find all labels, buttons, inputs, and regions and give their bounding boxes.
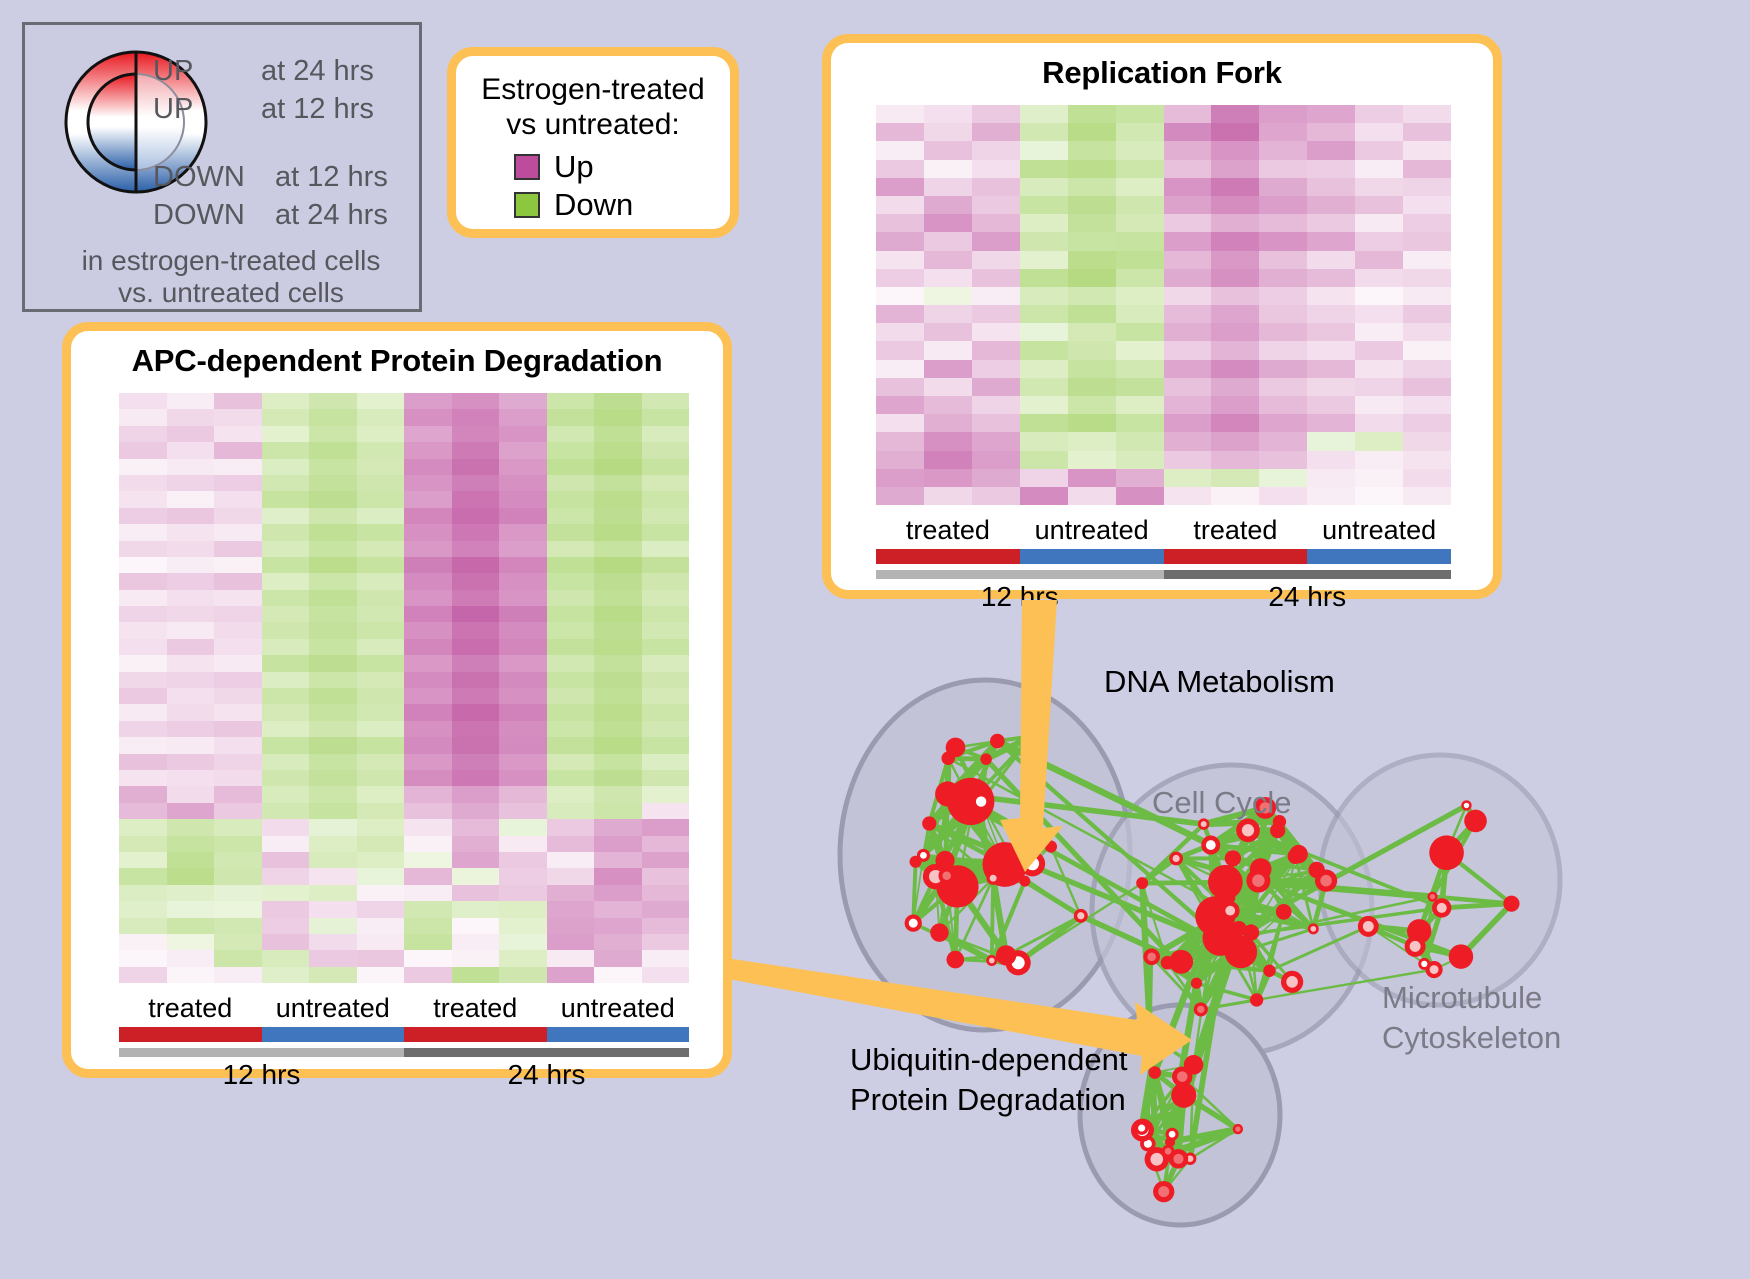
network-node[interactable] [1418, 958, 1430, 970]
heatmap-cell [1307, 360, 1355, 378]
network-node[interactable] [1169, 950, 1193, 974]
heatmap-cell [972, 432, 1020, 450]
heatmap-cell [499, 426, 547, 442]
heatmap-cell [642, 524, 690, 540]
heatmap-cell [924, 432, 972, 450]
heatmap-row [119, 901, 689, 917]
network-node[interactable] [1308, 923, 1319, 934]
heatmap-row [876, 251, 1451, 269]
apc-heatmap [119, 393, 689, 983]
heatmap-cell [1020, 432, 1068, 450]
cluster-label-ubiquitin: Ubiquitin-dependent [850, 1042, 1128, 1078]
heatmap-cell [1068, 141, 1116, 159]
network-node[interactable] [1020, 851, 1045, 876]
heatmap-row [119, 508, 689, 524]
heatmap-cell [357, 918, 405, 934]
heatmap-cell [214, 655, 262, 671]
heatmap-cell [309, 688, 357, 704]
heatmap-cell [1307, 214, 1355, 232]
heatmap-cell [262, 459, 310, 475]
heatmap-cell [876, 196, 924, 214]
heatmap-cell [167, 770, 215, 786]
network-node[interactable] [1250, 993, 1263, 1006]
heatmap-cell [1068, 214, 1116, 232]
heatmap-cell [357, 426, 405, 442]
heatmap-cell [262, 606, 310, 622]
heatmap-cell [547, 737, 595, 753]
heatmap-cell [309, 967, 357, 983]
heatmap-cell [1164, 323, 1212, 341]
heatmap-row [119, 885, 689, 901]
heatmap-cell [119, 639, 167, 655]
key-word-1: UP [153, 93, 193, 126]
network-node[interactable] [986, 872, 999, 885]
network-node[interactable] [1143, 948, 1160, 965]
heatmap-cell [404, 836, 452, 852]
heatmap-cell [309, 934, 357, 950]
heatmap-cell [642, 901, 690, 917]
heatmap-cell [499, 475, 547, 491]
network-node[interactable] [1169, 1149, 1189, 1169]
heatmap-cell [1211, 178, 1259, 196]
heatmap-cell [1211, 196, 1259, 214]
network-node[interactable] [986, 955, 997, 966]
heatmap-cell [262, 836, 310, 852]
heatmap-cell [1307, 305, 1355, 323]
heatmap-row [119, 524, 689, 540]
legend-title-line1: Estrogen-treated [456, 72, 730, 107]
heatmap-cell [876, 469, 924, 487]
heatmap-cell [1020, 287, 1068, 305]
heatmap-cell [262, 901, 310, 917]
heatmap-cell [1164, 360, 1212, 378]
heatmap-cell [167, 885, 215, 901]
heatmap-cell [1259, 160, 1307, 178]
heatmap-cell [214, 409, 262, 425]
heatmap-cell [1068, 341, 1116, 359]
heatmap-cell [924, 341, 972, 359]
heatmap-cell [972, 487, 1020, 505]
heatmap-cell [1020, 160, 1068, 178]
heatmap-cell [547, 721, 595, 737]
heatmap-cell [452, 868, 500, 884]
heatmap-cell [547, 524, 595, 540]
heatmap-cell [119, 508, 167, 524]
heatmap-cell [167, 934, 215, 950]
heatmap-cell [1355, 305, 1403, 323]
network-node[interactable] [1171, 1083, 1196, 1108]
heatmap-cell [404, 541, 452, 557]
heatmap-cell [1020, 123, 1068, 141]
heatmap-cell [594, 950, 642, 966]
axis-treatment-bar [547, 1027, 690, 1042]
heatmap-cell [1164, 305, 1212, 323]
heatmap-cell [309, 590, 357, 606]
network-node[interactable] [1221, 901, 1240, 920]
heatmap-cell [642, 573, 690, 589]
heatmap-row [119, 426, 689, 442]
network-node[interactable] [1153, 1181, 1174, 1202]
heatmap-cell [214, 606, 262, 622]
heatmap-cell [594, 770, 642, 786]
heatmap-cell [499, 950, 547, 966]
apc-panel: APC-dependent Protein Degradation treate… [62, 322, 732, 1078]
heatmap-cell [1403, 487, 1451, 505]
axis-timepoint-bar [1164, 570, 1452, 579]
heatmap-cell [1164, 251, 1212, 269]
heatmap-cell [357, 803, 405, 819]
heatmap-cell [214, 918, 262, 934]
heatmap-cell [1259, 432, 1307, 450]
heatmap-cell [547, 934, 595, 950]
heatmap-cell [1116, 269, 1164, 287]
heatmap-cell [309, 721, 357, 737]
axis-treatment-bar [1020, 549, 1164, 564]
heatmap-cell [214, 442, 262, 458]
network-node[interactable] [930, 923, 948, 941]
heatmap-cell [357, 721, 405, 737]
network-node[interactable] [1144, 1028, 1167, 1051]
heatmap-cell [594, 901, 642, 917]
heatmap-cell [404, 868, 452, 884]
network-node[interactable] [938, 868, 954, 884]
network-node[interactable] [1148, 1066, 1161, 1079]
heatmap-cell [499, 918, 547, 934]
network-node[interactable] [1233, 1124, 1243, 1134]
heatmap-cell [1403, 432, 1451, 450]
heatmap-cell [167, 655, 215, 671]
heatmap-cell [924, 414, 972, 432]
heatmap-cell [309, 573, 357, 589]
heatmap-cell [309, 918, 357, 934]
network-node[interactable] [1281, 971, 1303, 993]
heatmap-cell [357, 491, 405, 507]
network-node[interactable] [1263, 965, 1275, 977]
network-node[interactable] [1246, 869, 1270, 893]
heatmap-cell [167, 622, 215, 638]
network-node[interactable] [1019, 876, 1030, 887]
network-node[interactable] [1503, 896, 1519, 912]
heatmap-cell [214, 508, 262, 524]
heatmap-cell [452, 508, 500, 524]
heatmap-cell [214, 393, 262, 409]
heatmap-cell [404, 688, 452, 704]
heatmap-cell [404, 819, 452, 835]
heatmap-cell [404, 475, 452, 491]
axis-treatment-bar [404, 1027, 547, 1042]
network-node[interactable] [1449, 944, 1473, 968]
heatmap-cell [452, 754, 500, 770]
heatmap-cell [1020, 323, 1068, 341]
heatmap-cell [1211, 360, 1259, 378]
heatmap-cell [972, 414, 1020, 432]
network-node[interactable] [980, 753, 992, 765]
heatmap-cell [214, 852, 262, 868]
network-node[interactable] [1405, 936, 1426, 957]
network-node[interactable] [1231, 921, 1246, 936]
axis-timepoint-bar [404, 1048, 689, 1057]
heatmap-cell [1068, 487, 1116, 505]
heatmap-cell [167, 868, 215, 884]
heatmap-cell [1403, 232, 1451, 250]
heatmap-cell [404, 393, 452, 409]
heatmap-cell [594, 967, 642, 983]
heatmap-cell [876, 360, 924, 378]
heatmap-cell [1355, 451, 1403, 469]
heatmap-cell [1403, 305, 1451, 323]
heatmap-cell [262, 622, 310, 638]
heatmap-cell [262, 491, 310, 507]
heatmap-cell [357, 606, 405, 622]
heatmap-cell [594, 688, 642, 704]
heatmap-cell [1116, 178, 1164, 196]
heatmap-cell [1116, 323, 1164, 341]
heatmap-cell [594, 639, 642, 655]
heatmap-cell [547, 655, 595, 671]
network-node[interactable] [990, 734, 1005, 749]
heatmap-cell [167, 901, 215, 917]
heatmap-row [876, 232, 1451, 250]
network-node[interactable] [1136, 877, 1148, 889]
heatmap-cell [404, 573, 452, 589]
heatmap-cell [119, 901, 167, 917]
heatmap-cell [309, 508, 357, 524]
heatmap-cell [452, 491, 500, 507]
heatmap-cell [262, 557, 310, 573]
axis-timepoint-bar [119, 1048, 404, 1057]
heatmap-cell [1259, 323, 1307, 341]
heatmap-row [876, 341, 1451, 359]
heatmap-cell [642, 737, 690, 753]
heatmap-cell [876, 341, 924, 359]
heatmap-cell [876, 269, 924, 287]
network-node[interactable] [935, 851, 954, 870]
heatmap-cell [1211, 123, 1259, 141]
network-node[interactable] [971, 791, 991, 811]
key-time-1: at 12 hrs [261, 93, 374, 126]
network-node[interactable] [1225, 936, 1258, 969]
heatmap-cell [167, 442, 215, 458]
axis-treatment-bar [876, 549, 1020, 564]
heatmap-cell [924, 305, 972, 323]
heatmap-cell [547, 803, 595, 819]
heatmap-cell [1307, 487, 1355, 505]
axis-group-label: treated [1164, 515, 1308, 546]
heatmap-cell [167, 393, 215, 409]
network-node[interactable] [1236, 819, 1260, 843]
heatmap-cell [547, 967, 595, 983]
heatmap-cell [1259, 487, 1307, 505]
heatmap-cell [357, 852, 405, 868]
heatmap-cell [167, 639, 215, 655]
network-node[interactable] [1289, 845, 1307, 863]
heatmap-row [119, 622, 689, 638]
heatmap-cell [357, 688, 405, 704]
heatmap-cell [1307, 105, 1355, 123]
heatmap-cell [499, 672, 547, 688]
heatmap-cell [1259, 251, 1307, 269]
heatmap-cell [594, 573, 642, 589]
heatmap-cell [119, 459, 167, 475]
heatmap-cell [167, 606, 215, 622]
heatmap-cell [547, 836, 595, 852]
heatmap-cell [1307, 432, 1355, 450]
heatmap-cell [357, 770, 405, 786]
heatmap-cell [214, 868, 262, 884]
axis-treatment-bars [119, 1027, 689, 1042]
heatmap-cell [547, 770, 595, 786]
heatmap-row [119, 950, 689, 966]
heatmap-cell [357, 442, 405, 458]
network-edge [913, 862, 915, 923]
heatmap-cell [1116, 487, 1164, 505]
up-swatch-icon [514, 154, 540, 180]
heatmap-cell [1020, 178, 1068, 196]
heatmap-cell [1211, 251, 1259, 269]
heatmap-cell [876, 396, 924, 414]
network-node[interactable] [1464, 810, 1487, 833]
heatmap-cell [404, 918, 452, 934]
network-node[interactable] [1358, 916, 1379, 937]
heatmap-cell [1020, 469, 1068, 487]
heatmap-cell [452, 655, 500, 671]
network-node[interactable] [922, 816, 936, 830]
heatmap-cell [642, 590, 690, 606]
legend-label-up: Up [554, 149, 594, 185]
heatmap-row [876, 123, 1451, 141]
heatmap-cell [309, 852, 357, 868]
heatmap-cell [594, 606, 642, 622]
key-time-2: at 12 hrs [275, 161, 388, 194]
network-node[interactable] [1427, 892, 1437, 902]
key-time-3: at 24 hrs [275, 199, 388, 232]
heatmap-cell [924, 269, 972, 287]
network-node[interactable] [1276, 904, 1292, 920]
heatmap-cell [404, 885, 452, 901]
heatmap-cell [547, 491, 595, 507]
network-node[interactable] [1194, 1002, 1208, 1016]
network-node[interactable] [1184, 1055, 1204, 1075]
heatmap-cell [167, 573, 215, 589]
heatmap-cell [1403, 178, 1451, 196]
heatmap-cell [1068, 432, 1116, 450]
heatmap-cell [547, 754, 595, 770]
network-node[interactable] [1026, 730, 1038, 742]
heatmap-cell [452, 622, 500, 638]
heatmap-cell [642, 672, 690, 688]
heatmap-row [119, 737, 689, 753]
heatmap-cell [499, 786, 547, 802]
heatmap-cell [1259, 341, 1307, 359]
network-node[interactable] [910, 856, 922, 868]
heatmap-cell [924, 487, 972, 505]
heatmap-cell [452, 573, 500, 589]
heatmap-cell [167, 590, 215, 606]
network-node[interactable] [941, 751, 955, 765]
heatmap-cell [972, 323, 1020, 341]
heatmap-cell [499, 885, 547, 901]
heatmap-cell [499, 721, 547, 737]
heatmap-cell [404, 852, 452, 868]
heatmap-cell [594, 557, 642, 573]
network-node[interactable] [946, 951, 964, 969]
heatmap-cell [1355, 251, 1403, 269]
heatmap-cell [309, 868, 357, 884]
heatmap-cell [167, 786, 215, 802]
heatmap-cell [972, 178, 1020, 196]
network-node[interactable] [1201, 836, 1220, 855]
network-node[interactable] [935, 781, 960, 806]
heatmap-cell [357, 508, 405, 524]
heatmap-cell [972, 451, 1020, 469]
heatmap-cell [1211, 214, 1259, 232]
heatmap-row [876, 451, 1451, 469]
network-node[interactable] [1045, 841, 1057, 853]
heatmap-cell [452, 852, 500, 868]
heatmap-cell [1211, 160, 1259, 178]
heatmap-cell [642, 786, 690, 802]
heatmap-cell [547, 541, 595, 557]
heatmap-row [876, 360, 1451, 378]
heatmap-cell [1403, 123, 1451, 141]
heatmap-row [119, 918, 689, 934]
heatmap-cell [594, 934, 642, 950]
heatmap-cell [642, 655, 690, 671]
heatmap-cell [1116, 432, 1164, 450]
heatmap-cell [262, 655, 310, 671]
network-node[interactable] [1315, 870, 1337, 892]
network-node[interactable] [1429, 835, 1464, 870]
network-node[interactable] [1191, 978, 1202, 989]
heatmap-cell [452, 819, 500, 835]
heatmap-cell [876, 487, 924, 505]
heatmap-cell [1116, 360, 1164, 378]
network-node[interactable] [1169, 852, 1183, 866]
network-node[interactable] [1074, 909, 1088, 923]
legend-rows: Up Down [456, 149, 730, 223]
heatmap-cell [214, 950, 262, 966]
heatmap-cell [1020, 487, 1068, 505]
heatmap-cell [924, 141, 972, 159]
heatmap-cell [547, 426, 595, 442]
heatmap-cell [1259, 105, 1307, 123]
network-node[interactable] [996, 945, 1016, 965]
heatmap-row [876, 141, 1451, 159]
heatmap-cell [357, 885, 405, 901]
heatmap-cell [924, 123, 972, 141]
heatmap-cell [452, 950, 500, 966]
network-node[interactable] [1461, 800, 1471, 810]
heatmap-cell [404, 622, 452, 638]
heatmap-cell [1164, 378, 1212, 396]
network-node[interactable] [1225, 850, 1241, 866]
heatmap-cell [1355, 196, 1403, 214]
axis-group-label: untreated [1307, 515, 1451, 546]
heatmap-cell [547, 786, 595, 802]
heatmap-cell [642, 508, 690, 524]
heatmap-row [119, 688, 689, 704]
network-node[interactable] [1166, 1128, 1179, 1141]
heatmap-cell [1403, 469, 1451, 487]
heatmap-cell [1211, 305, 1259, 323]
network-node[interactable] [1135, 1121, 1149, 1135]
heatmap-cell [262, 393, 310, 409]
heatmap-cell [594, 721, 642, 737]
network-node[interactable] [905, 915, 922, 932]
heatmap-cell [1259, 178, 1307, 196]
heatmap-cell [1116, 196, 1164, 214]
heatmap-cell [1211, 432, 1259, 450]
